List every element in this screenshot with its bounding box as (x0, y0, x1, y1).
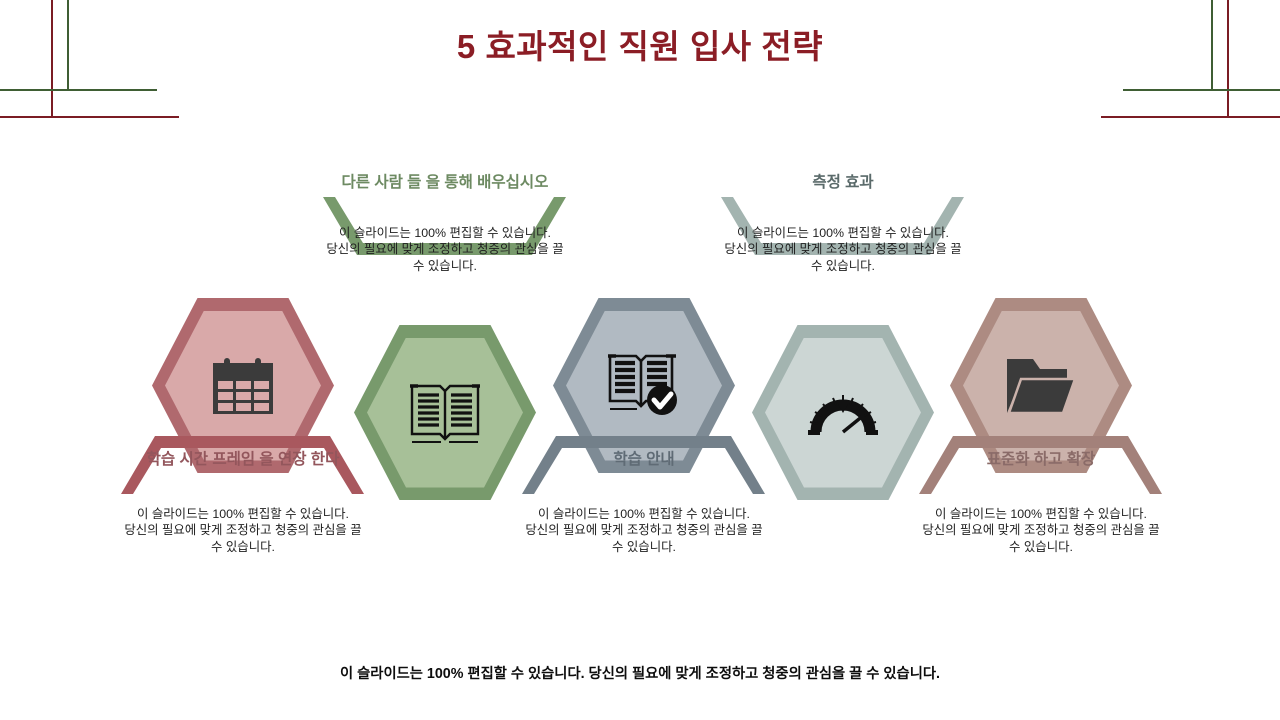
decoration-line-right-horizontal-red (1101, 116, 1280, 118)
open-book-icon (354, 325, 536, 500)
decoration-line-right-horizontal-green (1123, 89, 1280, 91)
node-body-1: 이 슬라이드는 100% 편집할 수 있습니다. 당신의 필요에 맞게 조정하고… (120, 506, 366, 555)
gauge-icon (752, 325, 934, 500)
node-title-2: 다른 사람 들 을 통해 배우십시오 (330, 173, 560, 193)
decoration-line-left-horizontal-red (0, 116, 179, 118)
infographic-node-2[interactable] (354, 325, 536, 500)
infographic-node-4[interactable] (752, 325, 934, 500)
node-body-3: 이 슬라이드는 100% 편집할 수 있습니다. 당신의 필요에 맞게 조정하고… (521, 506, 767, 555)
node-title-1: 학습 시간 프레임 을 연장 한다 (128, 450, 358, 470)
node-body-2: 이 슬라이드는 100% 편집할 수 있습니다. 당신의 필요에 맞게 조정하고… (322, 225, 568, 274)
node-body-4: 이 슬라이드는 100% 편집할 수 있습니다. 당신의 필요에 맞게 조정하고… (720, 225, 966, 274)
decoration-line-left-horizontal-green (0, 89, 157, 91)
node-title-3: 학습 안내 (529, 450, 759, 470)
footer-caption: 이 슬라이드는 100% 편집할 수 있습니다. 당신의 필요에 맞게 조정하고… (0, 662, 1280, 683)
page-title: 5 효과적인 직원 입사 전략 (0, 20, 1280, 68)
hexagon-2[interactable] (354, 325, 536, 500)
hexagon-4[interactable] (752, 325, 934, 500)
node-title-5: 표준화 하고 확장 (926, 450, 1156, 470)
slide-canvas: 5 효과적인 직원 입사 전략 (0, 0, 1280, 720)
node-body-5: 이 슬라이드는 100% 편집할 수 있습니다. 당신의 필요에 맞게 조정하고… (918, 506, 1164, 555)
node-title-4: 측정 효과 (728, 173, 958, 193)
